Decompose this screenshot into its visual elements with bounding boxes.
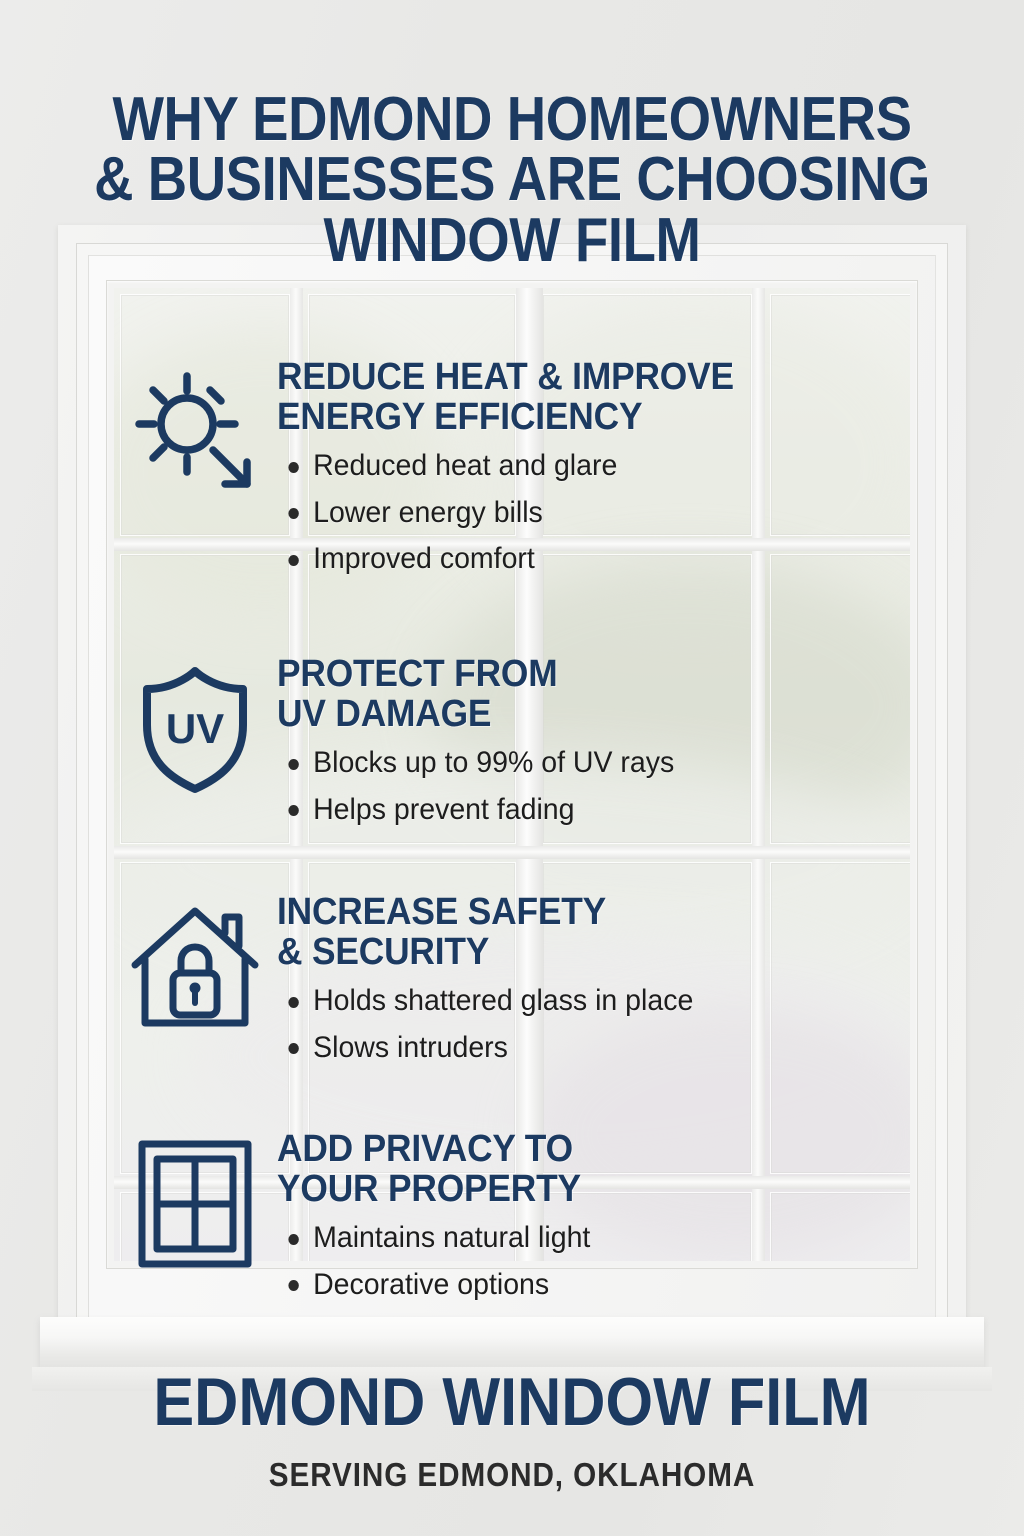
benefit-heading-line-2: ENERGY EFFICIENCY — [277, 398, 868, 438]
list-item: Reduced heat and glare — [277, 443, 880, 490]
page-title-line-1: WHY EDMOND HOMEOWNERS — [61, 90, 962, 151]
benefit-block-heat: REDUCE HEAT & IMPROVE ENERGY EFFICIENCY … — [112, 358, 912, 583]
benefit-bullet-list: Blocks up to 99% of UV rays Helps preven… — [277, 740, 912, 833]
list-item: Lower energy bills — [277, 490, 880, 537]
benefit-icon-wrap — [112, 893, 277, 1033]
benefit-heading-line-1: REDUCE HEAT & IMPROVE — [277, 358, 868, 398]
benefit-bullet-list: Holds shattered glass in place Slows int… — [277, 978, 912, 1071]
benefit-heading: ADD PRIVACY TO YOUR PROPERTY — [277, 1130, 868, 1209]
benefit-heading-line-2: & SECURITY — [277, 933, 868, 973]
benefit-block-safety: INCREASE SAFETY & SECURITY Holds shatter… — [112, 893, 912, 1071]
benefit-icon-wrap — [112, 1130, 277, 1270]
benefit-heading-line-2: UV DAMAGE — [277, 695, 868, 735]
uv-shield-label: UV — [165, 705, 223, 752]
list-item: Helps prevent fading — [277, 787, 880, 834]
list-item: Slows intruders — [277, 1025, 880, 1072]
benefit-heading-line-1: ADD PRIVACY TO — [277, 1130, 868, 1170]
list-item: Maintains natural light — [277, 1215, 880, 1262]
brand-name: EDMOND WINDOW FILM — [51, 1368, 973, 1436]
benefit-bullet-list: Reduced heat and glare Lower energy bill… — [277, 443, 912, 583]
benefit-heading: INCREASE SAFETY & SECURITY — [277, 893, 868, 972]
benefit-text-wrap: REDUCE HEAT & IMPROVE ENERGY EFFICIENCY … — [277, 358, 912, 583]
window-sill — [40, 1317, 984, 1371]
list-item: Holds shattered glass in place — [277, 978, 880, 1025]
benefit-text-wrap: INCREASE SAFETY & SECURITY Holds shatter… — [277, 893, 912, 1071]
window-panes-icon — [136, 1138, 254, 1270]
brand-tagline: SERVING EDMOND, OKLAHOMA — [51, 1456, 973, 1494]
benefit-heading-line-2: YOUR PROPERTY — [277, 1170, 868, 1210]
page-title-line-2: & BUSINESSES ARE CHOOSING — [61, 150, 962, 211]
window-mullion-horizontal — [114, 846, 910, 859]
list-item: Decorative options — [277, 1262, 880, 1309]
page-title: WHY EDMOND HOMEOWNERS & BUSINESSES ARE C… — [61, 90, 962, 272]
sun-with-arrow-icon — [129, 366, 261, 498]
benefit-text-wrap: PROTECT FROM UV DAMAGE Blocks up to 99% … — [277, 655, 912, 833]
house-with-lock-icon — [129, 901, 261, 1033]
benefit-heading: REDUCE HEAT & IMPROVE ENERGY EFFICIENCY — [277, 358, 868, 437]
benefit-heading: PROTECT FROM UV DAMAGE — [277, 655, 868, 734]
benefit-icon-wrap: UV — [112, 655, 277, 795]
uv-shield-icon: UV — [135, 663, 255, 795]
page-title-line-3: WINDOW FILM — [61, 211, 962, 272]
benefit-bullet-list: Maintains natural light Decorative optio… — [277, 1215, 912, 1308]
list-item: Blocks up to 99% of UV rays — [277, 740, 880, 787]
benefit-heading-line-1: PROTECT FROM — [277, 655, 868, 695]
benefit-block-uv: UV PROTECT FROM UV DAMAGE Blocks up to 9… — [112, 655, 912, 833]
benefit-text-wrap: ADD PRIVACY TO YOUR PROPERTY Maintains n… — [277, 1130, 912, 1308]
footer: EDMOND WINDOW FILM SERVING EDMOND, OKLAH… — [0, 1368, 1024, 1494]
benefit-block-privacy: ADD PRIVACY TO YOUR PROPERTY Maintains n… — [112, 1130, 912, 1308]
benefit-heading-line-1: INCREASE SAFETY — [277, 893, 868, 933]
benefit-icon-wrap — [112, 358, 277, 498]
list-item: Improved comfort — [277, 536, 880, 583]
